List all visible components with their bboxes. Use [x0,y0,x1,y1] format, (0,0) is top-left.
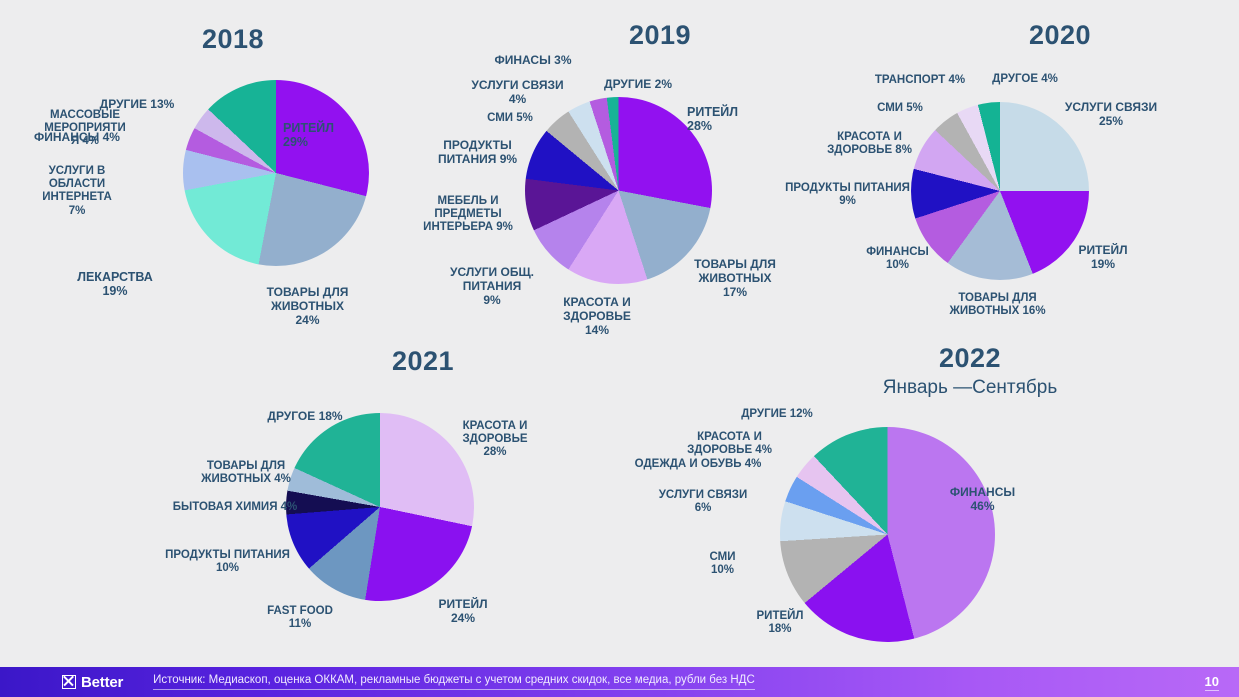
slice-label-2020-услуги-связи: УСЛУГИ СВЯЗИ 25% [1046,101,1176,129]
slice-label-2021-другое: ДРУГОЕ 18% [245,410,365,424]
slice-label-2020-другое: ДРУГОЕ 4% [975,73,1075,86]
brand-logo[interactable]: Better [62,674,123,691]
slice-label-2019-продукты-питания: ПРОДУКТЫ ПИТАНИЯ 9% [425,139,530,167]
slice-label-2020-красота-и-здоровье: КРАСОТА И ЗДОРОВЬЕ 8% [812,131,927,157]
boxed-x-icon [62,675,76,689]
slice-label-2019-ритейл: РИТЕЙЛ 28% [687,105,797,134]
chart-title-2021: 2021 [298,348,548,375]
chart-title-2022: 2022 [845,345,1095,372]
slice-label-2022-ритейл: РИТЕЙЛ 18% [735,610,825,636]
slice-label-2018-массовые-мероприятия: МАССОВЫЕ МЕРОПРИЯТИ Я 4% [30,109,140,149]
slice-label-2022-одежда-и-обувь: ОДЕЖДА И ОБУВЬ 4% [628,458,768,471]
slice-label-2021-бытовая-химия: БЫТОВАЯ ХИМИЯ 4% [160,501,310,514]
slice-label-2021-fast-food: FAST FOOD 11% [245,605,355,631]
slice-label-2020-сми: СМИ 5% [860,102,940,115]
chart-2021: 2021 [298,348,548,604]
slice-label-2019-услуги-общ-питания: УСЛУГИ ОБЩ. ПИТАНИЯ 9% [437,266,547,307]
slice-label-2021-товары-для-животных: ТОВАРЫ ДЛЯ ЖИВОТНЫХ 4% [186,460,306,486]
chart-title-2020: 2020 [935,22,1185,49]
slice-label-2022-другие: ДРУГИЕ 12% [722,408,832,421]
pie-wrap-2022 [845,409,1095,624]
slice-label-2020-товары-для-животных: ТОВАРЫ ДЛЯ ЖИВОТНЫХ 16% [930,292,1065,318]
slice-label-2021-продукты-питания: ПРОДУКТЫ ПИТАНИЯ 10% [155,549,300,575]
brand-name: Better [81,674,123,691]
slice-label-2018-другие: ДРУГИЕ 13% [82,98,192,112]
chart-2020: 2020 [935,22,1185,278]
slice-label-2022-финансы: ФИНАНСЫ 46% [930,486,1035,514]
slice-label-2020-транспорт: ТРАНСПОРТ 4% [865,74,975,87]
slide-canvas: 2018 РИТЕЙЛ 29% ТОВАРЫ ДЛЯ ЖИВОТНЫХ 24% … [0,0,1239,697]
slice-label-2022-услуги-связи: УСЛУГИ СВЯЗИ 6% [648,489,758,515]
slice-label-2018-товары-для-животных: ТОВАРЫ ДЛЯ ЖИВОТНЫХ 24% [240,286,375,327]
pie-chart-2019 [525,97,712,284]
slice-label-2019-другие: ДРУГИЕ 2% [583,78,693,92]
slice-label-2019-сми: СМИ 5% [470,112,550,125]
page-number: 10 [1205,674,1219,691]
slice-label-2018-услуги-в-области-интернета: УСЛУГИ В ОБЛАСТИ ИНТЕРНЕТА 7% [22,165,132,218]
slice-label-2019-красота-и-здоровье: КРАСОТА И ЗДОРОВЬЕ 14% [547,296,647,337]
slice-label-2020-продукты-питания: ПРОДУКТЫ ПИТАНИЯ 9% [780,182,915,208]
slice-label-2019-финасы: ФИНАСЫ 3% [478,54,588,68]
slice-label-2022-сми: СМИ 10% [685,551,760,577]
slice-label-2018-лекарства: ЛЕКАРСТВА 19% [50,270,180,299]
slice-label-2020-ритейл: РИТЕЙЛ 19% [1058,244,1148,272]
footer-bar: Better Источник: Медиаскоп, оценка ОККАМ… [0,667,1239,697]
slice-label-2019-мебель-и-предметы-интерьера: МЕБЕЛЬ И ПРЕДМЕТЫ ИНТЕРЬЕРА 9% [413,195,523,235]
chart-title-2019: 2019 [535,22,785,49]
chart-subtitle-2022: Январь —Сентябрь [845,378,1095,397]
slice-label-2022-красота-и-здоровье: КРАСОТА И ЗДОРОВЬЕ 4% [672,431,787,457]
slice-label-2018-ритейл: РИТЕЙЛ 29% [283,121,393,150]
chart-title-2018: 2018 [108,26,358,53]
slice-label-2021-красота-и-здоровье: КРАСОТА И ЗДОРОВЬЕ 28% [440,420,550,460]
source-note: Источник: Медиаскоп, оценка ОККАМ, рекла… [153,674,755,690]
pie-chart-2018 [183,80,369,266]
slice-label-2019-товары-для-животных: ТОВАРЫ ДЛЯ ЖИВОТНЫХ 17% [680,258,790,299]
slice-label-2021-ритейл: РИТЕЙЛ 24% [418,598,508,626]
slice-label-2019-услуги-связи: УСЛУГИ СВЯЗИ 4% [455,79,580,107]
slice-label-2020-финансы: ФИНАНСЫ 10% [845,246,950,272]
chart-2018: 2018 [108,26,358,277]
